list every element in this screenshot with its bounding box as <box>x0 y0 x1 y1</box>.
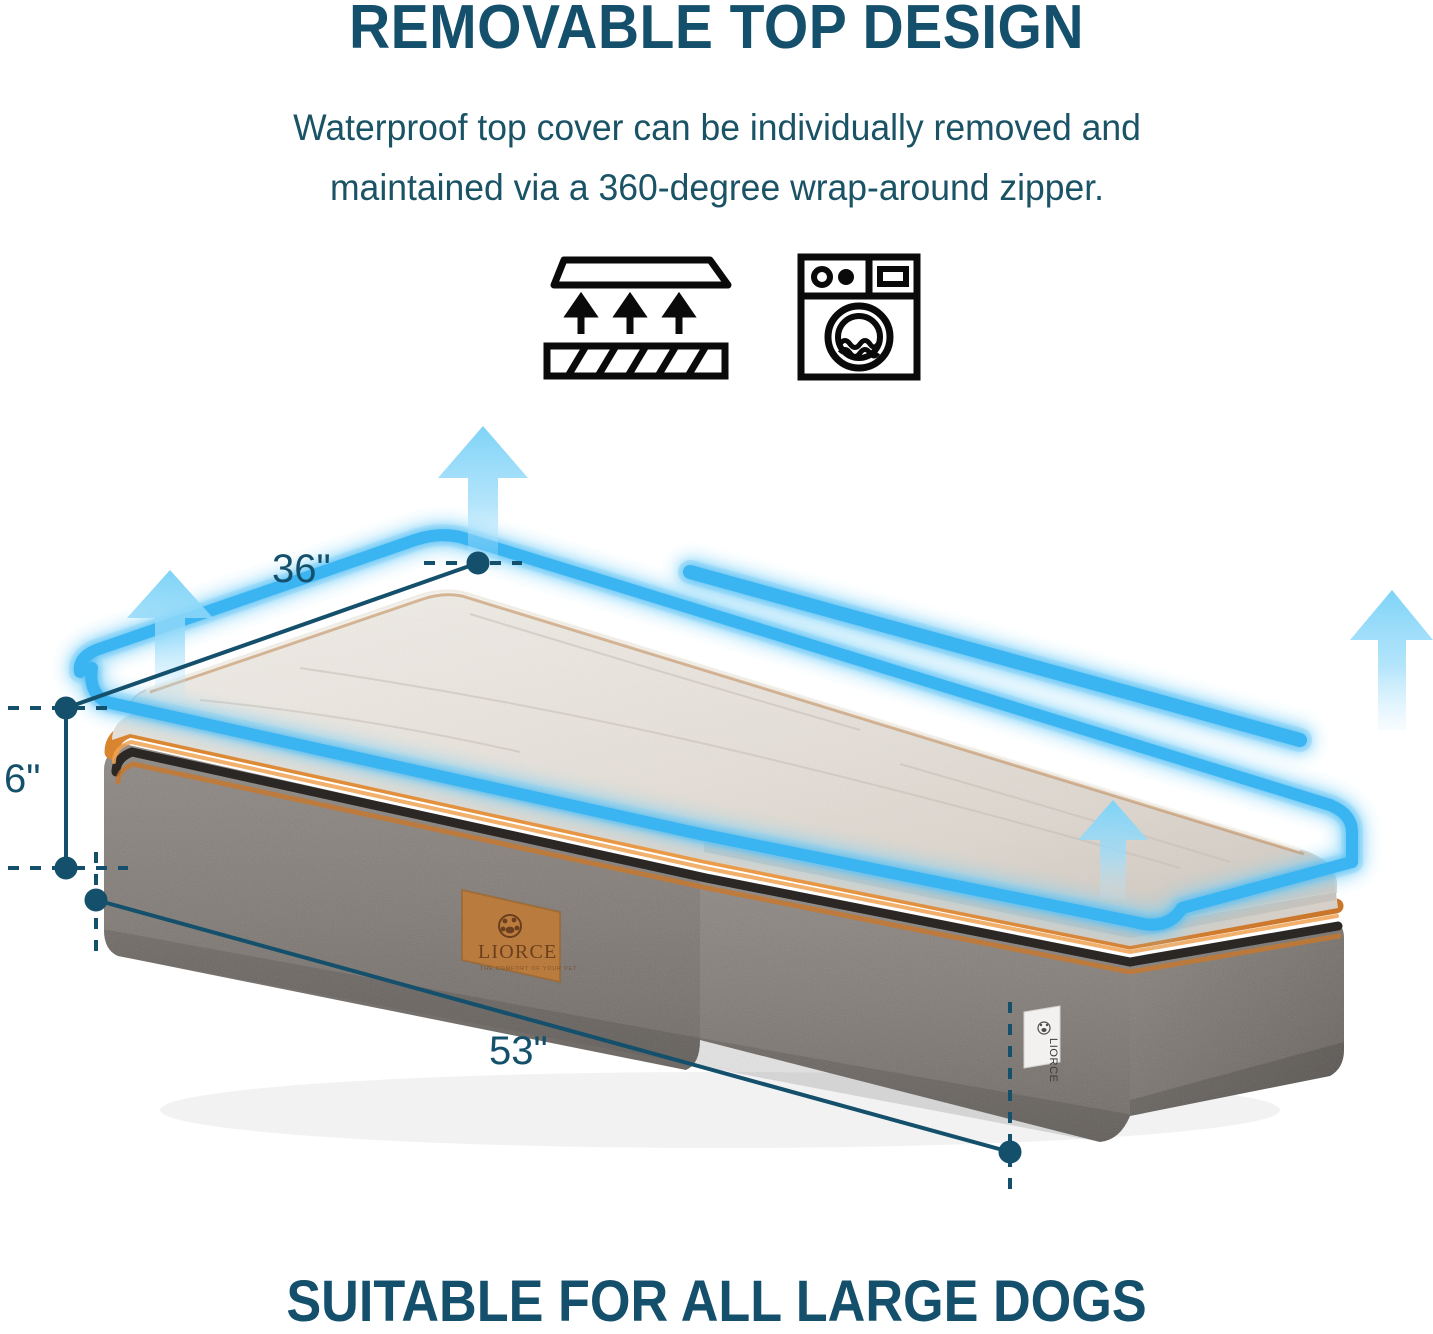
brand-tag-side-label: LIORCE <box>1047 1038 1059 1083</box>
page-title: REMOVABLE TOP DESIGN <box>57 0 1375 60</box>
dimension-label-length: 53" <box>489 1029 548 1074</box>
subtitle-line-2: maintained via a 360-degree wrap-around … <box>198 158 1235 218</box>
washing-machine-icon <box>796 252 922 387</box>
removable-layer-icon <box>538 252 734 387</box>
subtitle-line-1: Waterproof top cover can be individually… <box>198 98 1235 158</box>
feature-icon-row <box>538 252 922 387</box>
infographic-root: REMOVABLE TOP DESIGN Waterproof top cove… <box>0 0 1433 1331</box>
page-subtitle: Waterproof top cover can be individually… <box>198 98 1235 218</box>
lift-arrow-far-right <box>1350 590 1433 730</box>
footer-title: SUITABLE FOR ALL LARGE DOGS <box>72 1271 1362 1333</box>
brand-tag-label: LIORCE <box>478 941 557 963</box>
dimension-label-width: 36" <box>272 547 331 592</box>
product-illustration: LIORCE THE COMFORT OF YOUR PET LIORCE <box>0 400 1433 1230</box>
brand-tag-tagline: THE COMFORT OF YOUR PET <box>480 966 577 972</box>
dimension-label-height: 6" <box>4 757 40 802</box>
